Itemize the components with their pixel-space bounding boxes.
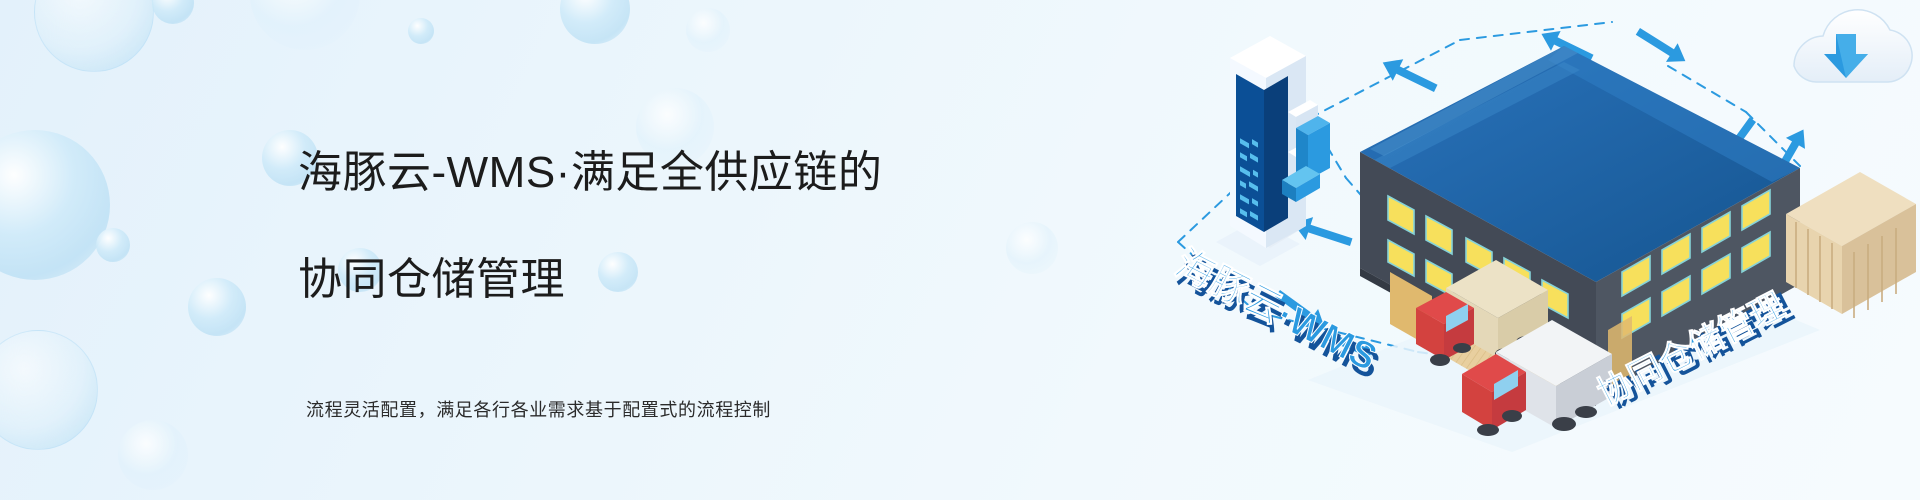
- decor-bubble: [1006, 222, 1058, 274]
- cloud-download-icon: [1794, 10, 1912, 82]
- decor-bubble: [188, 278, 246, 336]
- label-left-text: 海豚云·WMS: [1169, 242, 1384, 379]
- decor-bubble: [34, 0, 154, 72]
- decor-bubble: [560, 0, 630, 44]
- decor-bubble: [0, 130, 110, 280]
- warehouse-illustration: 海豚云·WMS 海豚云·WMS 协同仓储管理 协同仓储管理: [1160, 0, 1920, 500]
- decor-bubble: [408, 18, 434, 44]
- banner-headline: 海豚云-WMS·满足全供应链的 协同仓储管理: [298, 92, 938, 360]
- decor-bubble: [152, 0, 194, 24]
- decor-bubble: [250, 0, 360, 50]
- banner-text-block: 海豚云-WMS·满足全供应链的 协同仓储管理 流程灵活配置，满足各行各业需求基于…: [298, 92, 938, 422]
- decor-bubble: [0, 330, 98, 450]
- banner-subtitle: 流程灵活配置，满足各行各业需求基于配置式的流程控制: [306, 396, 938, 422]
- headline-line-2: 协同仓储管理: [298, 253, 938, 307]
- decor-bubble: [96, 228, 130, 262]
- decor-bubble: [118, 420, 188, 490]
- headline-line-1: 海豚云-WMS·满足全供应链的: [298, 146, 938, 200]
- shipping-container: [1786, 172, 1916, 318]
- label-haitunyun-wms: 海豚云·WMS 海豚云·WMS: [1166, 242, 1389, 387]
- promo-banner: 海豚云-WMS·满足全供应链的 协同仓储管理 流程灵活配置，满足各行各业需求基于…: [0, 0, 1920, 500]
- decor-bubble: [686, 8, 730, 52]
